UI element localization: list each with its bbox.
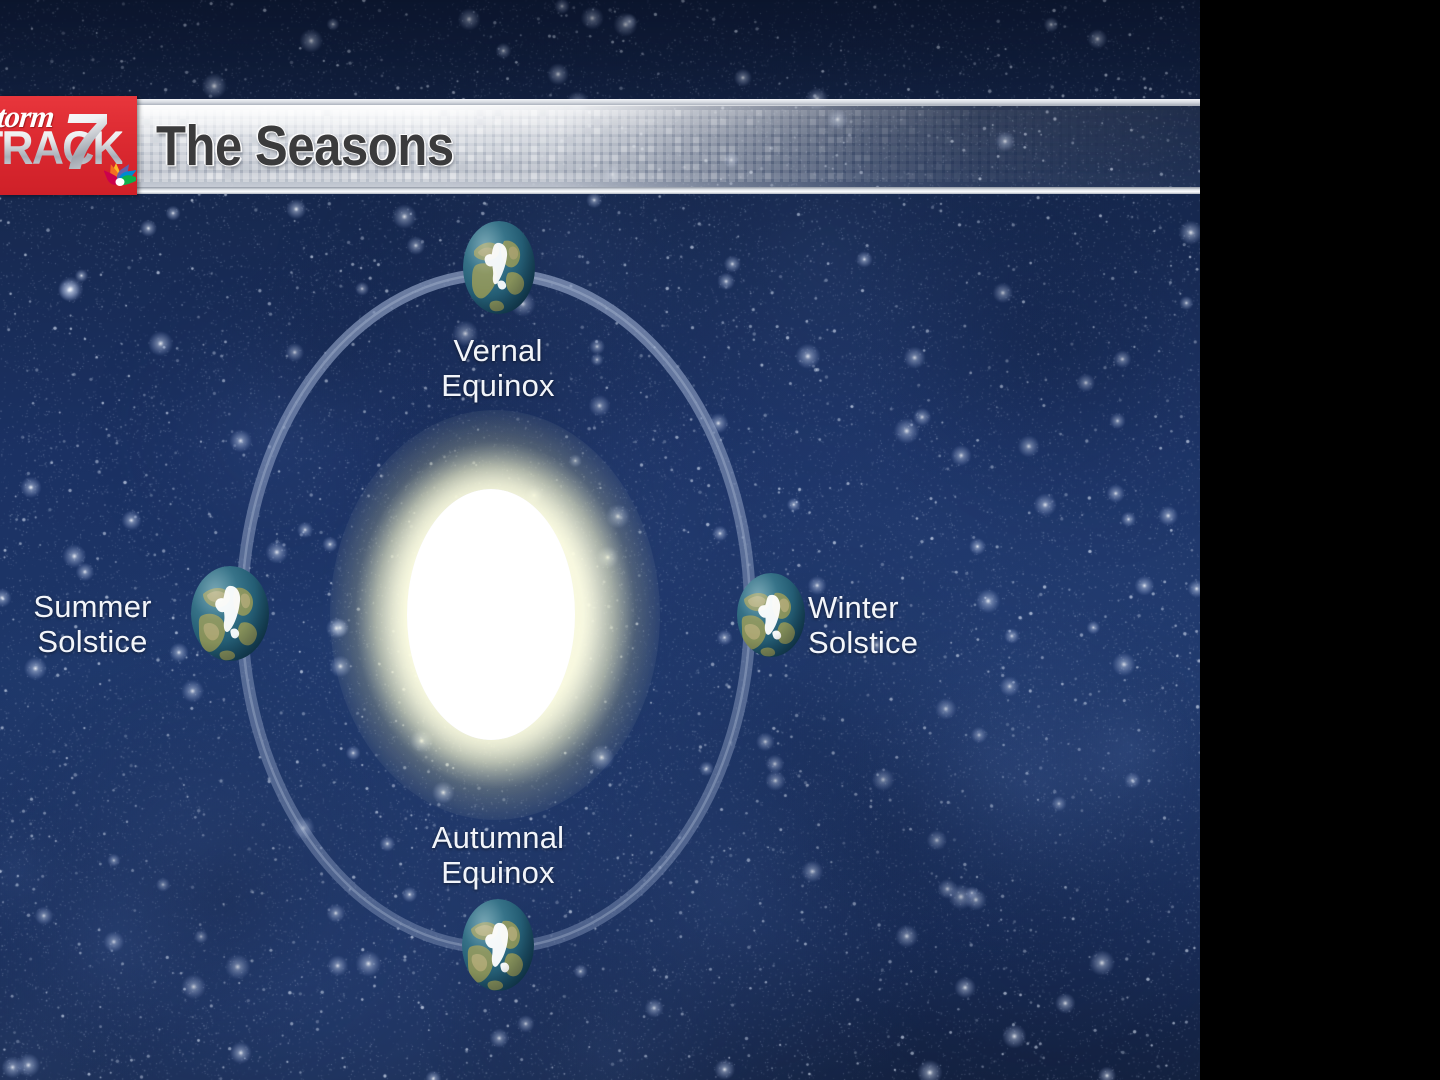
label-vernal-equinox: Vernal Equinox <box>373 333 623 403</box>
globe-shading <box>737 573 805 657</box>
logo-seven-numeral: 7 <box>62 102 107 182</box>
earth-summer-solstice <box>191 566 269 661</box>
earth-winter-solstice <box>737 573 805 657</box>
label-summer-line1: Summer <box>10 589 175 624</box>
globe-shading <box>191 566 269 661</box>
label-summer-line2: Solstice <box>10 624 175 659</box>
label-winter-line1: Winter <box>808 590 1008 625</box>
page-title: The Seasons <box>156 115 454 177</box>
label-winter-solstice: Winter Solstice <box>808 590 1008 660</box>
slide-stage: Vernal Equinox Summer Solstice Autumnal … <box>0 0 1440 1080</box>
nbc-peacock-icon <box>104 153 136 187</box>
label-autumnal-line2: Equinox <box>373 855 623 890</box>
label-vernal-line1: Vernal <box>373 333 623 368</box>
title-bar: The Seasons <box>0 99 1200 194</box>
title-bar-bottom-edge <box>0 187 1200 194</box>
label-summer-solstice: Summer Solstice <box>10 589 175 659</box>
globe-shading <box>463 221 535 314</box>
storm-track-7-logo[interactable]: Storm TRACK 7 <box>0 96 137 195</box>
earth-vernal-equinox <box>463 221 535 314</box>
label-winter-line2: Solstice <box>808 625 1008 660</box>
sun <box>407 489 575 740</box>
right-black-margin <box>1200 0 1440 1080</box>
label-autumnal-line1: Autumnal <box>373 820 623 855</box>
earth-autumnal-equinox <box>462 899 534 991</box>
label-autumnal-equinox: Autumnal Equinox <box>373 820 623 890</box>
label-vernal-line2: Equinox <box>373 368 623 403</box>
globe-shading <box>462 899 534 991</box>
